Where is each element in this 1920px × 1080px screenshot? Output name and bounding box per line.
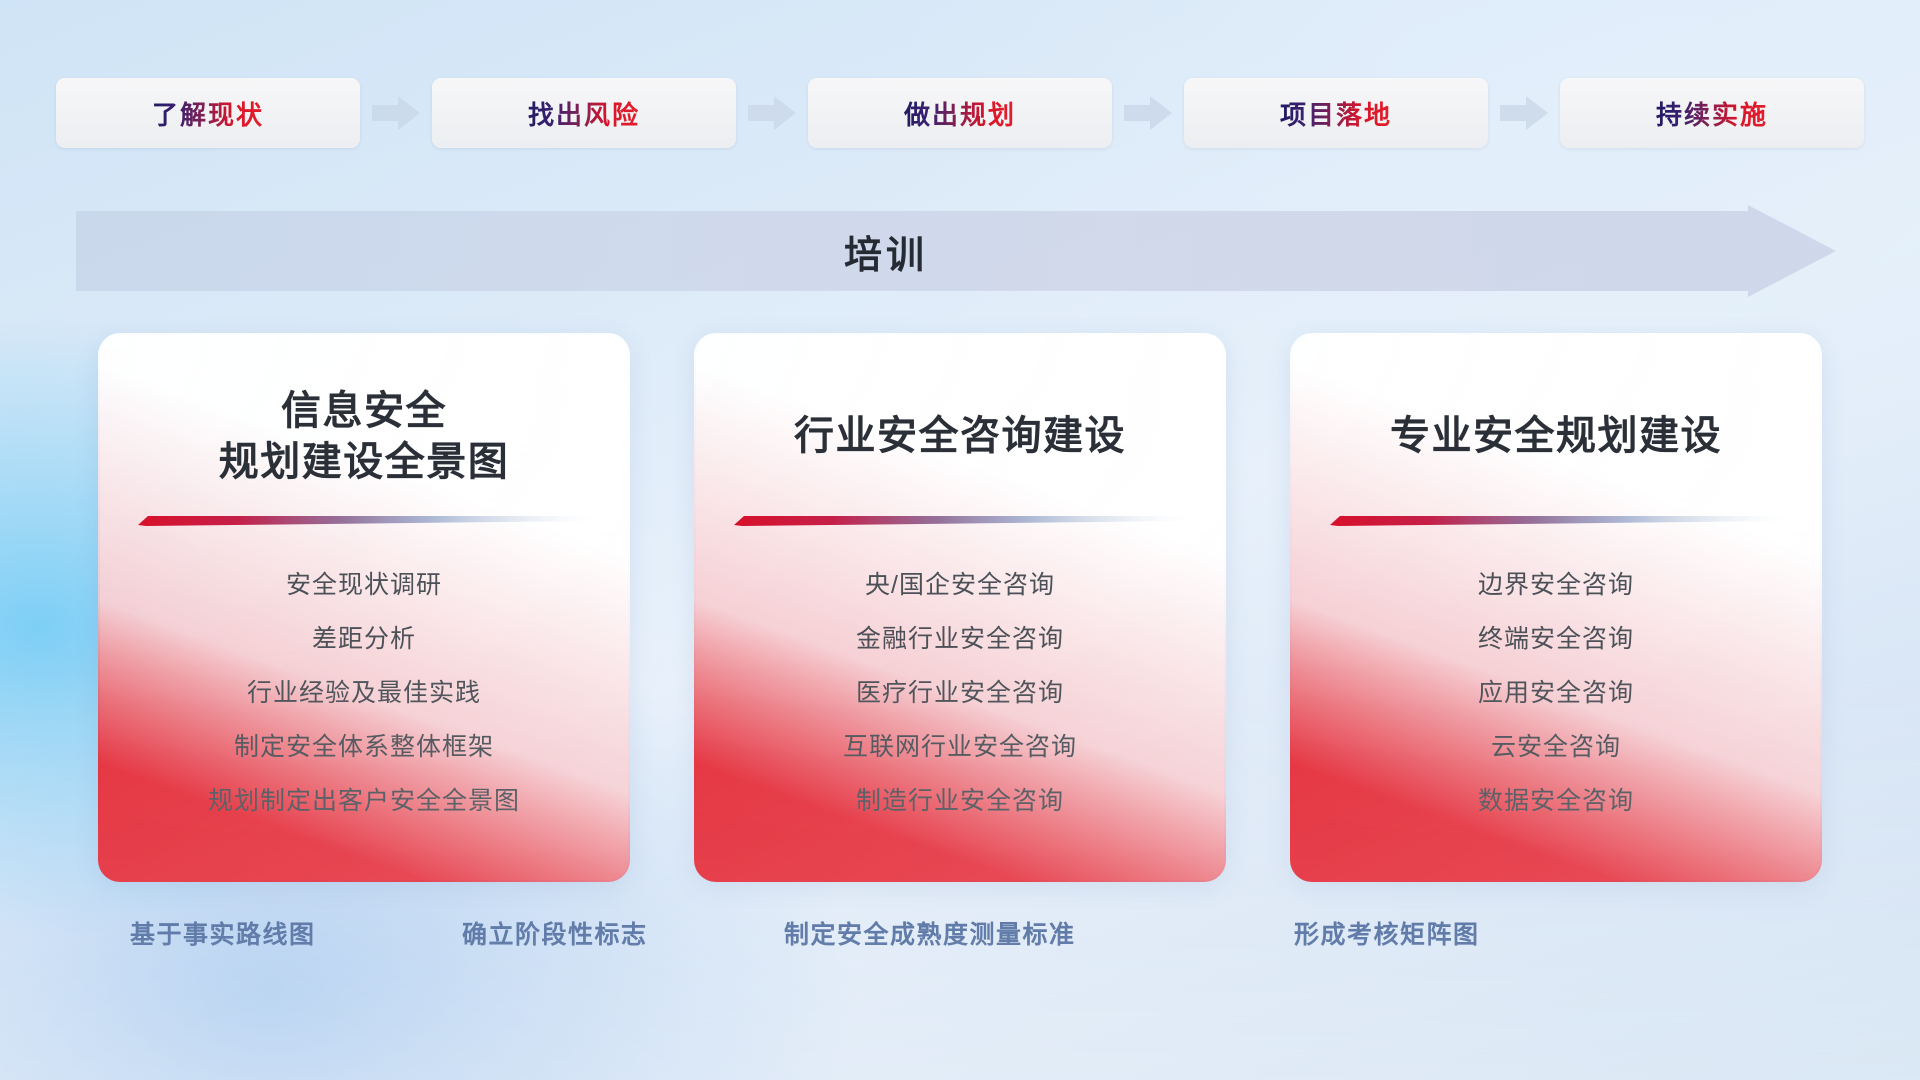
caption-milestone: 确立阶段性标志	[462, 915, 648, 951]
card-list: 安全现状调研 差距分析 行业经验及最佳实践 制定安全体系整体框架 规划制定出客户…	[134, 565, 594, 817]
step-box-4[interactable]: 项目落地	[1184, 78, 1488, 148]
gradient-divider	[734, 515, 1186, 527]
list-item: 行业经验及最佳实践	[247, 673, 481, 709]
step-label: 持续实施	[1656, 95, 1768, 132]
list-item: 安全现状调研	[286, 565, 442, 601]
card-title: 信息安全 规划建设全景图	[134, 385, 594, 489]
arrow-right-icon	[1500, 96, 1548, 130]
card-info-security-panorama[interactable]: 信息安全 规划建设全景图	[100, 335, 628, 880]
list-item: 央/国企安全咨询	[865, 565, 1055, 601]
card-list: 边界安全咨询 终端安全咨询 应用安全咨询 云安全咨询 数据安全咨询	[1326, 565, 1786, 817]
step-box-3[interactable]: 做出规划	[808, 78, 1112, 148]
step-label: 了解现状	[152, 95, 264, 132]
infographic-canvas: 了解现状 找出风险 做出规划 项目落地	[0, 0, 1920, 1080]
card-title: 行业安全咨询建设	[730, 385, 1190, 489]
list-item: 边界安全咨询	[1478, 565, 1634, 601]
arrow-right-icon	[748, 96, 796, 130]
list-item: 终端安全咨询	[1478, 619, 1634, 655]
arrow-right-icon	[1124, 96, 1172, 130]
step-label: 做出规划	[904, 95, 1016, 132]
gradient-divider	[1330, 515, 1782, 527]
list-item: 云安全咨询	[1491, 727, 1621, 763]
banner-label-wrap: 培训	[76, 205, 1836, 297]
list-item: 差距分析	[312, 619, 416, 655]
arrow-right-icon	[372, 96, 420, 130]
card-title: 专业安全规划建设	[1326, 385, 1786, 489]
step-label: 找出风险	[528, 95, 640, 132]
list-item: 制定安全体系整体框架	[234, 727, 494, 763]
card-industry-security-consulting[interactable]: 行业安全咨询建设	[696, 335, 1224, 880]
list-item: 金融行业安全咨询	[856, 619, 1064, 655]
list-item: 医疗行业安全咨询	[856, 673, 1064, 709]
gradient-divider	[138, 515, 590, 527]
list-item: 制造行业安全咨询	[856, 781, 1064, 817]
caption-roadmap: 基于事实路线图	[130, 915, 316, 951]
caption-row: 基于事实路线图 确立阶段性标志 制定安全成熟度测量标准 形成考核矩阵图	[0, 915, 1920, 955]
caption-maturity: 制定安全成熟度测量标准	[784, 915, 1076, 951]
card-professional-security-planning[interactable]: 专业安全规划建设	[1292, 335, 1820, 880]
step-box-1[interactable]: 了解现状	[56, 78, 360, 148]
step-box-2[interactable]: 找出风险	[432, 78, 736, 148]
card-row: 信息安全 规划建设全景图	[0, 335, 1920, 880]
list-item: 应用安全咨询	[1478, 673, 1634, 709]
step-box-5[interactable]: 持续实施	[1560, 78, 1864, 148]
caption-matrix: 形成考核矩阵图	[1294, 915, 1480, 951]
process-step-row: 了解现状 找出风险 做出规划 项目落地	[0, 78, 1920, 148]
step-label: 项目落地	[1280, 95, 1392, 132]
card-list: 央/国企安全咨询 金融行业安全咨询 医疗行业安全咨询 互联网行业安全咨询 制造行…	[730, 565, 1190, 817]
list-item: 规划制定出客户安全全景图	[208, 781, 520, 817]
banner-label: 培训	[844, 224, 928, 279]
list-item: 数据安全咨询	[1478, 781, 1634, 817]
training-banner: 培训	[76, 205, 1836, 297]
list-item: 互联网行业安全咨询	[843, 727, 1077, 763]
